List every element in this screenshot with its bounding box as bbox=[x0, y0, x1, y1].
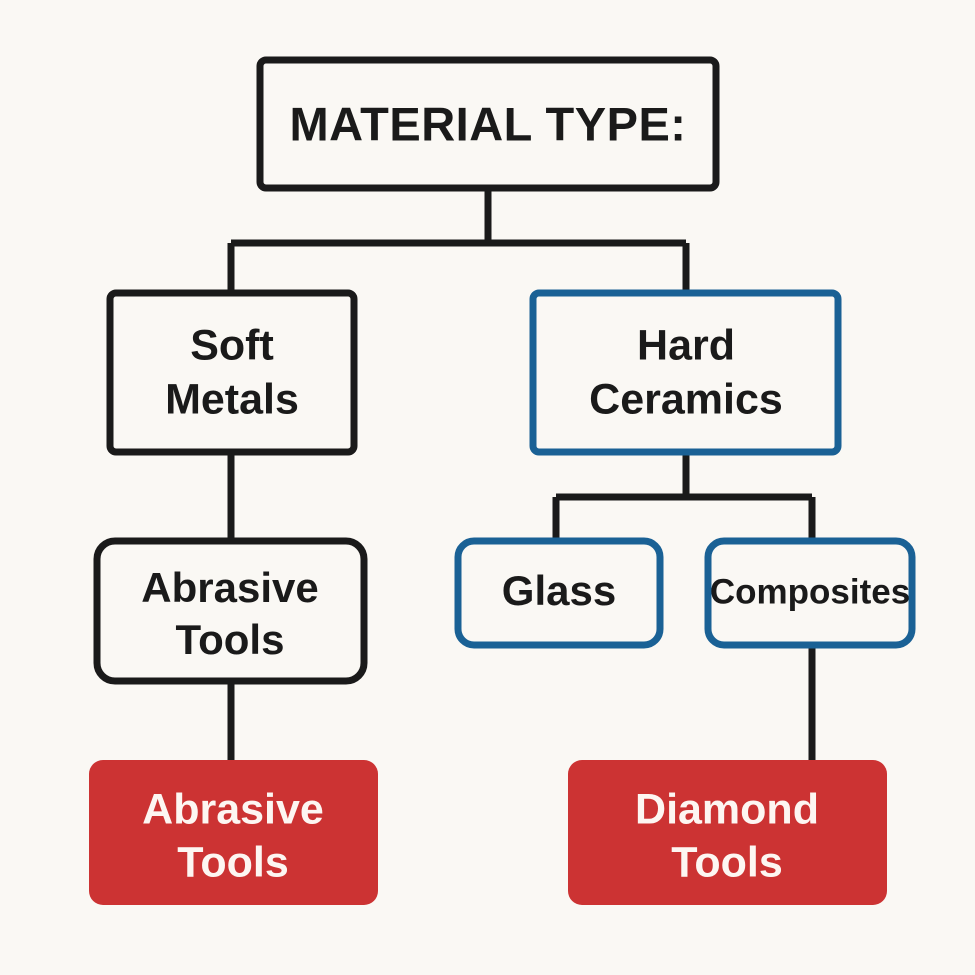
node-soft-metals[interactable]: Soft Metals bbox=[110, 293, 354, 452]
node-soft-metals-label-line1: Soft bbox=[190, 321, 274, 369]
node-diamond-tools-result-label-line1: Diamond bbox=[635, 785, 819, 833]
node-hard-ceramics-box bbox=[533, 293, 838, 452]
node-glass-label: Glass bbox=[502, 567, 616, 614]
node-composites[interactable]: Composites bbox=[708, 541, 912, 645]
node-abrasive-tools-result[interactable]: Abrasive Tools bbox=[89, 760, 378, 905]
node-abrasive-tools-result-label-line1: Abrasive bbox=[142, 785, 324, 833]
node-root-label: MATERIAL TYPE: bbox=[290, 97, 687, 150]
node-diamond-tools-result-label-line2: Tools bbox=[671, 838, 782, 886]
flowchart-canvas: MATERIAL TYPE: Soft Metals Hard Ceramics… bbox=[0, 0, 975, 975]
node-hard-ceramics-label-line2: Ceramics bbox=[589, 375, 783, 423]
node-abrasive-tools-mid[interactable]: Abrasive Tools bbox=[97, 541, 364, 681]
node-composites-label: Composites bbox=[710, 572, 910, 611]
node-abrasive-tools-mid-label-line1: Abrasive bbox=[141, 564, 318, 611]
node-hard-ceramics-label-line1: Hard bbox=[637, 321, 735, 369]
node-root[interactable]: MATERIAL TYPE: bbox=[260, 60, 716, 188]
flowchart-diagram: MATERIAL TYPE: Soft Metals Hard Ceramics… bbox=[0, 0, 975, 975]
node-hard-ceramics[interactable]: Hard Ceramics bbox=[533, 293, 838, 452]
node-abrasive-tools-result-label-line2: Tools bbox=[177, 838, 288, 886]
node-soft-metals-label-line2: Metals bbox=[165, 375, 299, 423]
node-soft-metals-box bbox=[110, 293, 354, 452]
node-glass[interactable]: Glass bbox=[458, 541, 660, 645]
node-abrasive-tools-mid-label-line2: Tools bbox=[176, 616, 285, 663]
node-diamond-tools-result[interactable]: Diamond Tools bbox=[568, 760, 887, 905]
